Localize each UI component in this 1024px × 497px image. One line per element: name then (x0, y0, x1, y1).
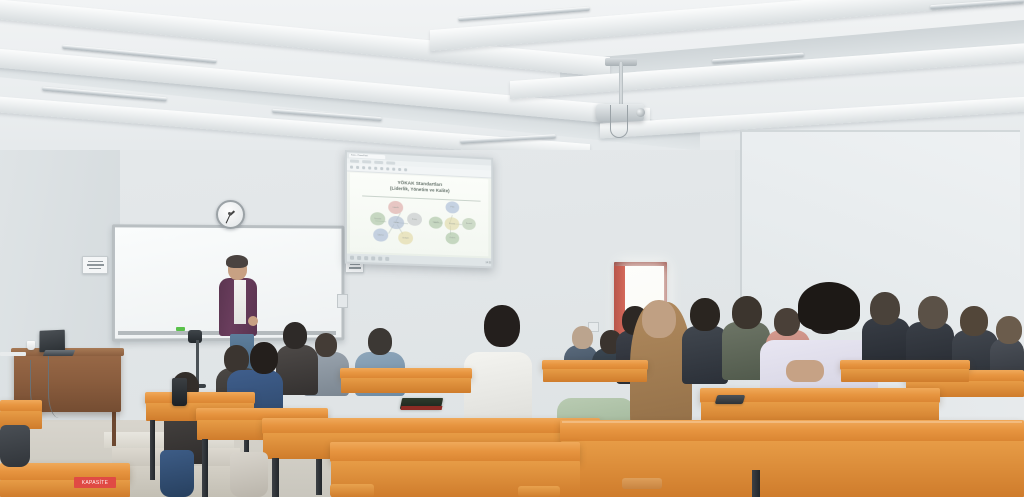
diagram-node: İzleme (373, 228, 388, 242)
presenter-hand (248, 316, 258, 326)
toolbar-item[interactable] (350, 160, 359, 163)
diagram-node: Plan (446, 201, 460, 214)
ribbon-button[interactable] (356, 166, 359, 169)
ribbon-button[interactable] (374, 167, 377, 170)
cable-duct (0, 352, 26, 356)
stool-seat (622, 478, 662, 489)
taskbar-app-icon[interactable] (385, 257, 389, 261)
diagram-node-label: İzleme (378, 234, 384, 236)
desk-sticker: KAPASİTE (74, 477, 116, 488)
diagram-node: Liderlik (388, 201, 403, 215)
taskbar-app-icon[interactable] (364, 256, 368, 260)
backpack (230, 452, 268, 497)
ribbon-button[interactable] (392, 168, 395, 171)
slide-canvas: YÖKAK Standartları (Liderlik, Yönetim ve… (350, 173, 488, 257)
diagram-node: Süreç (407, 212, 422, 226)
student-desk-front (841, 369, 969, 382)
diagram-node-label: Sistem (449, 223, 455, 225)
student-desk-front-row (330, 442, 580, 462)
desk-edge-highlight (562, 421, 1022, 423)
classroom-photo: Sunu - PowerPoint (0, 0, 1024, 497)
clock-minute-hand (225, 215, 230, 224)
presenter-hair (226, 255, 248, 268)
diagram-node-label: Önlem (450, 237, 456, 239)
diagram-node-label: Uygula (433, 222, 439, 224)
student-desk-front (341, 378, 471, 393)
wall-clock-icon (216, 200, 245, 229)
diagram-node: Kalite (388, 216, 404, 230)
desk-leg (112, 406, 116, 446)
ribbon-button[interactable] (362, 166, 365, 169)
smartphone[interactable] (715, 395, 746, 404)
toolbar-item[interactable] (362, 160, 371, 163)
diagram-node: Uygula (429, 216, 443, 229)
light-switch[interactable] (337, 294, 348, 308)
diagram-node-label: Kontrol (466, 223, 472, 225)
desk-leg (272, 458, 279, 497)
diagram-node-label: Liderlik (393, 206, 399, 208)
clock-center-pin (228, 212, 231, 215)
microphone-head (188, 330, 202, 343)
student-desk (262, 418, 600, 434)
student-desk-front (543, 369, 647, 382)
whiteboard-marker (176, 327, 185, 331)
desk-leg (752, 470, 760, 497)
diagram-node-label: Plan (450, 206, 454, 208)
ribbon-button[interactable] (404, 168, 407, 171)
coffee-cup (27, 341, 35, 350)
projector-pole (619, 62, 623, 110)
ribbon-button[interactable] (350, 166, 353, 169)
toolbar-item[interactable] (386, 162, 395, 165)
toolbar-item[interactable] (374, 161, 383, 164)
diagram-node: Kontrol (462, 218, 476, 230)
backpack (160, 450, 194, 497)
wall-plaque-left (82, 256, 108, 274)
diagram-node: Sistem (445, 217, 460, 231)
diagram-node: Yönetim (370, 212, 385, 226)
taskbar-start-icon[interactable] (350, 256, 354, 260)
diagram-node-label: Yönetim (374, 218, 381, 220)
audience-arm (786, 360, 824, 382)
ribbon-button[interactable] (398, 168, 401, 171)
slide-divider (362, 195, 480, 201)
laptop-screen[interactable] (39, 330, 65, 353)
taskbar-app-icon[interactable] (371, 256, 375, 260)
projection-screen: Sunu - PowerPoint (345, 150, 493, 268)
projected-desktop: Sunu - PowerPoint (347, 152, 491, 266)
presenter-shirt (234, 280, 246, 324)
projector-cable (610, 105, 628, 138)
backpack (0, 425, 30, 467)
ribbon-button[interactable] (380, 167, 383, 170)
projector-lens-icon (636, 108, 645, 117)
diagram-node-label: Süreç (412, 218, 417, 220)
taskbar-app-icon[interactable] (378, 257, 382, 261)
notebook-edge (401, 406, 443, 410)
student-desk-front-row (560, 420, 1024, 442)
ribbon-button[interactable] (368, 166, 371, 169)
power-cable (48, 356, 75, 418)
desk-leg (202, 439, 208, 497)
diagram-node-label: Gelişim (402, 237, 409, 239)
diagram-node: Gelişim (398, 231, 413, 245)
taskbar-app-icon[interactable] (357, 256, 361, 260)
slide-title: YÖKAK Standartları (Liderlik, Yönetim ve… (350, 178, 488, 196)
ribbon-button[interactable] (386, 167, 389, 170)
desk-leg (150, 420, 155, 480)
ceiling (0, 0, 1024, 150)
stool-seat (518, 486, 560, 497)
diagram-node: Önlem (446, 232, 460, 244)
diagram-node-label: Kalite (394, 221, 399, 223)
taskbar-clock: 14:32 (485, 261, 491, 264)
thermos-bottle (172, 378, 187, 406)
stool-seat (330, 484, 374, 497)
